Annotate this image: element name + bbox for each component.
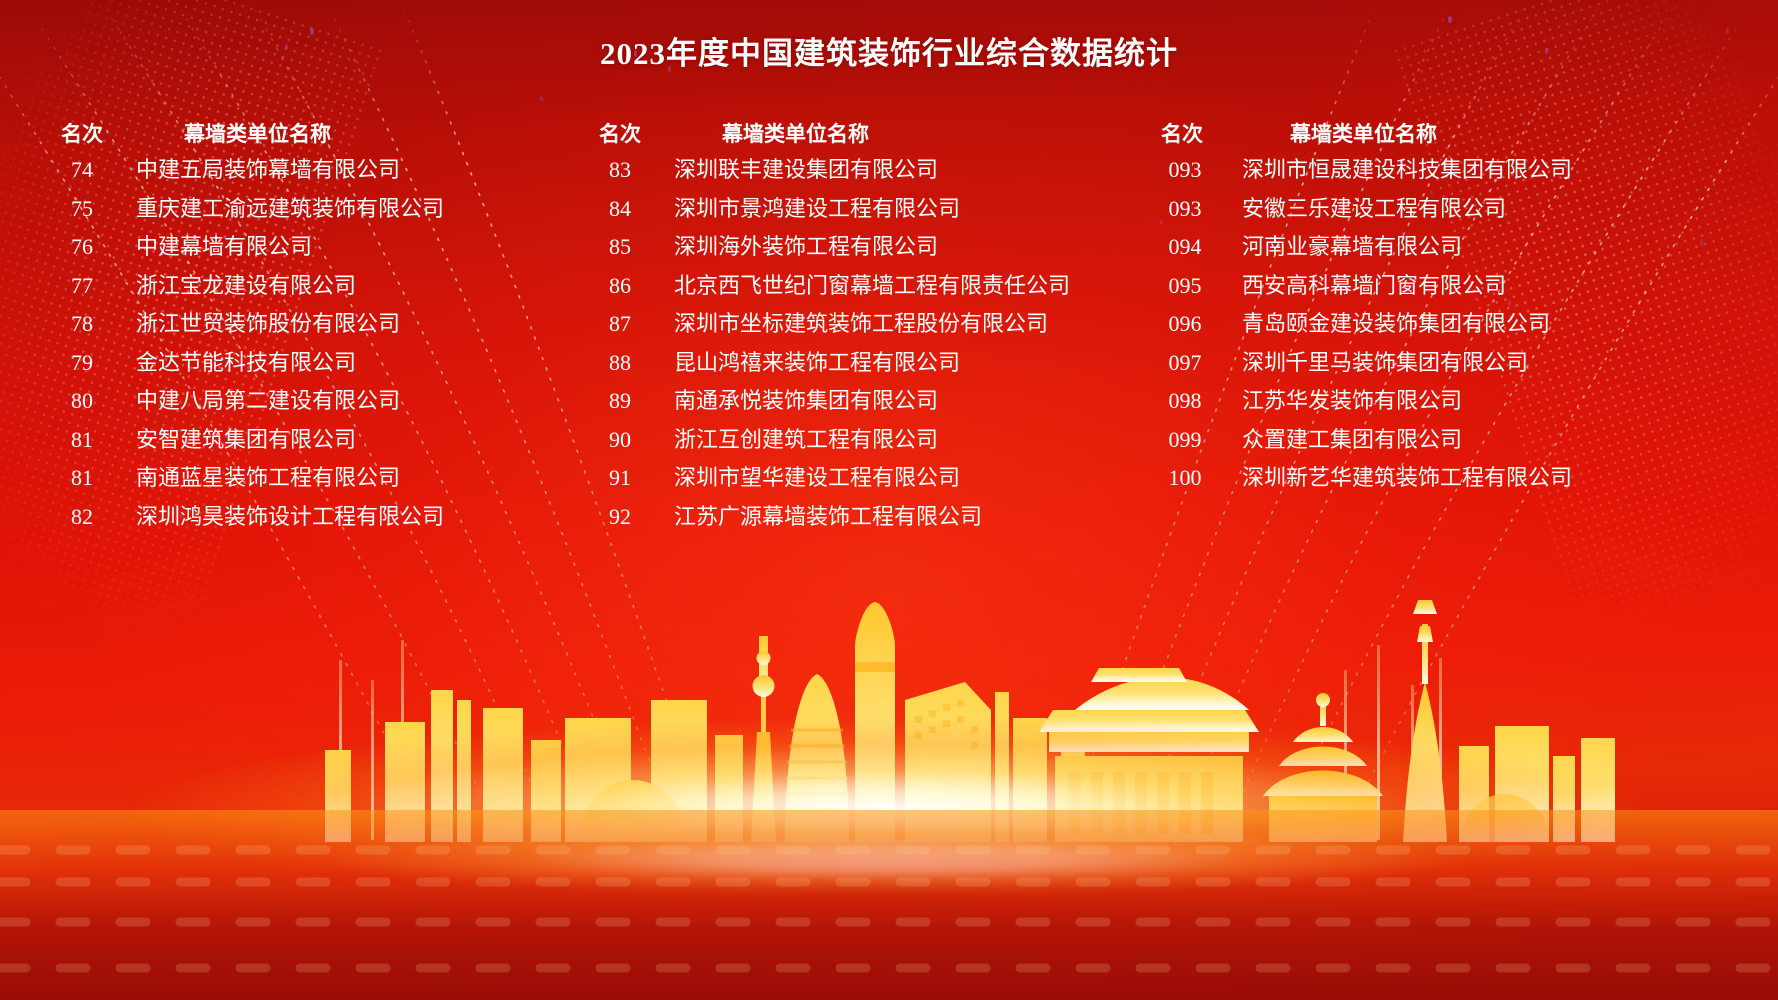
row-company: 江苏华发装饰有限公司 xyxy=(1228,383,1762,415)
sparkle-dot xyxy=(1448,16,1452,23)
row-rank: 85 xyxy=(580,234,660,260)
row-rank: 096 xyxy=(1142,311,1228,337)
sparkle-dot xyxy=(540,96,543,101)
row-company: 江苏广源幕墙装饰工程有限公司 xyxy=(660,499,1140,531)
table-row[interactable]: 098江苏华发装饰有限公司 xyxy=(1142,383,1762,422)
table-row[interactable]: 78浙江世贸装饰股份有限公司 xyxy=(42,306,582,345)
table-row[interactable]: 093深圳市恒晟建设科技集团有限公司 xyxy=(1142,152,1762,191)
row-company: 浙江宝龙建设有限公司 xyxy=(122,268,582,300)
rankings-board: 名次 幕墙类单位名称 74中建五局装饰幕墙有限公司 75重庆建工渝远建筑装饰有限… xyxy=(0,118,1778,558)
rankings-column-3: 名次 幕墙类单位名称 093深圳市恒晟建设科技集团有限公司 093安徽三乐建设工… xyxy=(1142,118,1762,499)
row-company: 深圳联丰建设集团有限公司 xyxy=(660,152,1140,184)
table-row[interactable]: 81南通蓝星装饰工程有限公司 xyxy=(42,460,582,499)
row-company: 中建五局装饰幕墙有限公司 xyxy=(122,152,582,184)
row-company: 深圳市恒晟建设科技集团有限公司 xyxy=(1228,152,1762,184)
row-company: 金达节能科技有限公司 xyxy=(122,345,582,377)
table-row[interactable]: 85深圳海外装饰工程有限公司 xyxy=(580,229,1140,268)
row-rank: 093 xyxy=(1142,157,1228,183)
column-header-rank: 名次 xyxy=(580,118,660,148)
column-header-name: 幕墙类单位名称 xyxy=(1222,118,1762,148)
table-row[interactable]: 87深圳市坐标建筑装饰工程股份有限公司 xyxy=(580,306,1140,345)
table-row[interactable]: 74中建五局装饰幕墙有限公司 xyxy=(42,152,582,191)
page-title: 2023年度中国建筑装饰行业综合数据统计 xyxy=(0,28,1778,73)
table-row[interactable]: 84深圳市景鸿建设工程有限公司 xyxy=(580,191,1140,230)
horizon-glow xyxy=(0,660,1778,960)
row-rank: 87 xyxy=(580,311,660,337)
horizon-core-glow xyxy=(0,804,1778,914)
table-row[interactable]: 097深圳千里马装饰集团有限公司 xyxy=(1142,345,1762,384)
row-company: 昆山鸿禧来装饰工程有限公司 xyxy=(660,345,1140,377)
row-company: 深圳鸿昊装饰设计工程有限公司 xyxy=(122,499,582,531)
table-row[interactable]: 88昆山鸿禧来装饰工程有限公司 xyxy=(580,345,1140,384)
row-company: 浙江互创建筑工程有限公司 xyxy=(660,422,1140,454)
row-company: 河南业豪幕墙有限公司 xyxy=(1228,229,1762,261)
table-row[interactable]: 89南通承悦装饰集团有限公司 xyxy=(580,383,1140,422)
row-rank: 78 xyxy=(42,311,122,337)
row-company: 深圳海外装饰工程有限公司 xyxy=(660,229,1140,261)
table-row[interactable]: 91深圳市望华建设工程有限公司 xyxy=(580,460,1140,499)
road-dashes xyxy=(0,830,1778,1000)
table-row[interactable]: 75重庆建工渝远建筑装饰有限公司 xyxy=(42,191,582,230)
column-header: 名次 幕墙类单位名称 xyxy=(1142,118,1762,152)
table-row[interactable]: 82深圳鸿昊装饰设计工程有限公司 xyxy=(42,499,582,538)
row-rank: 75 xyxy=(42,196,122,222)
table-row[interactable]: 92江苏广源幕墙装饰工程有限公司 xyxy=(580,499,1140,538)
column-header: 名次 幕墙类单位名称 xyxy=(580,118,1140,152)
table-row[interactable]: 094河南业豪幕墙有限公司 xyxy=(1142,229,1762,268)
column-header-name: 幕墙类单位名称 xyxy=(122,118,582,148)
row-rank: 82 xyxy=(42,504,122,530)
row-company: 众置建工集团有限公司 xyxy=(1228,422,1762,454)
row-company: 深圳千里马装饰集团有限公司 xyxy=(1228,345,1762,377)
row-company: 青岛颐金建设装饰集团有限公司 xyxy=(1228,306,1762,338)
table-row[interactable]: 86北京西飞世纪门窗幕墙工程有限责任公司 xyxy=(580,268,1140,307)
row-company: 西安高科幕墙门窗有限公司 xyxy=(1228,268,1762,300)
row-rank: 86 xyxy=(580,273,660,299)
row-company: 重庆建工渝远建筑装饰有限公司 xyxy=(122,191,582,223)
city-skyline-graphic xyxy=(139,550,1639,850)
table-row[interactable]: 90浙江互创建筑工程有限公司 xyxy=(580,422,1140,461)
row-rank: 84 xyxy=(580,196,660,222)
row-company: 浙江世贸装饰股份有限公司 xyxy=(122,306,582,338)
row-company: 深圳市坐标建筑装饰工程股份有限公司 xyxy=(660,306,1140,338)
rankings-column-2: 名次 幕墙类单位名称 83深圳联丰建设集团有限公司 84深圳市景鸿建设工程有限公… xyxy=(580,118,1140,537)
row-company: 深圳市景鸿建设工程有限公司 xyxy=(660,191,1140,223)
table-row[interactable]: 79金达节能科技有限公司 xyxy=(42,345,582,384)
row-rank: 92 xyxy=(580,504,660,530)
table-row[interactable]: 76中建幕墙有限公司 xyxy=(42,229,582,268)
row-rank: 095 xyxy=(1142,273,1228,299)
row-rank: 100 xyxy=(1142,465,1228,491)
table-row[interactable]: 096青岛颐金建设装饰集团有限公司 xyxy=(1142,306,1762,345)
table-row[interactable]: 77浙江宝龙建设有限公司 xyxy=(42,268,582,307)
row-rank: 099 xyxy=(1142,427,1228,453)
row-rank: 83 xyxy=(580,157,660,183)
row-company: 深圳市望华建设工程有限公司 xyxy=(660,460,1140,492)
ground-gradient xyxy=(0,810,1778,1000)
row-rank: 79 xyxy=(42,350,122,376)
poster-canvas: 2023年度中国建筑装饰行业综合数据统计 名次 幕墙类单位名称 74中建五局装饰… xyxy=(0,0,1778,1000)
row-company: 安徽三乐建设工程有限公司 xyxy=(1228,191,1762,223)
row-company: 深圳新艺华建筑装饰工程有限公司 xyxy=(1228,460,1762,492)
table-row[interactable]: 100深圳新艺华建筑装饰工程有限公司 xyxy=(1142,460,1762,499)
row-company: 安智建筑集团有限公司 xyxy=(122,422,582,454)
column-header-name: 幕墙类单位名称 xyxy=(660,118,1140,148)
table-row[interactable]: 095西安高科幕墙门窗有限公司 xyxy=(1142,268,1762,307)
column-header: 名次 幕墙类单位名称 xyxy=(42,118,582,152)
row-company: 南通蓝星装饰工程有限公司 xyxy=(122,460,582,492)
row-rank: 80 xyxy=(42,388,122,414)
row-rank: 094 xyxy=(1142,234,1228,260)
row-company: 南通承悦装饰集团有限公司 xyxy=(660,383,1140,415)
row-rank: 90 xyxy=(580,427,660,453)
row-rank: 74 xyxy=(42,157,122,183)
row-rank: 097 xyxy=(1142,350,1228,376)
row-rank: 098 xyxy=(1142,388,1228,414)
row-rank: 89 xyxy=(580,388,660,414)
table-row[interactable]: 099众置建工集团有限公司 xyxy=(1142,422,1762,461)
row-rank: 91 xyxy=(580,465,660,491)
table-row[interactable]: 093安徽三乐建设工程有限公司 xyxy=(1142,191,1762,230)
row-company: 北京西飞世纪门窗幕墙工程有限责任公司 xyxy=(660,268,1140,300)
table-row[interactable]: 81安智建筑集团有限公司 xyxy=(42,422,582,461)
row-rank: 77 xyxy=(42,273,122,299)
row-company: 中建八局第二建设有限公司 xyxy=(122,383,582,415)
row-rank: 81 xyxy=(42,427,122,453)
table-row[interactable]: 83深圳联丰建设集团有限公司 xyxy=(580,152,1140,191)
row-rank: 81 xyxy=(42,465,122,491)
rankings-column-1: 名次 幕墙类单位名称 74中建五局装饰幕墙有限公司 75重庆建工渝远建筑装饰有限… xyxy=(42,118,582,537)
row-company: 中建幕墙有限公司 xyxy=(122,229,582,261)
column-header-rank: 名次 xyxy=(1142,118,1222,148)
row-rank: 093 xyxy=(1142,196,1228,222)
row-rank: 76 xyxy=(42,234,122,260)
column-header-rank: 名次 xyxy=(42,118,122,148)
row-rank: 88 xyxy=(580,350,660,376)
table-row[interactable]: 80中建八局第二建设有限公司 xyxy=(42,383,582,422)
